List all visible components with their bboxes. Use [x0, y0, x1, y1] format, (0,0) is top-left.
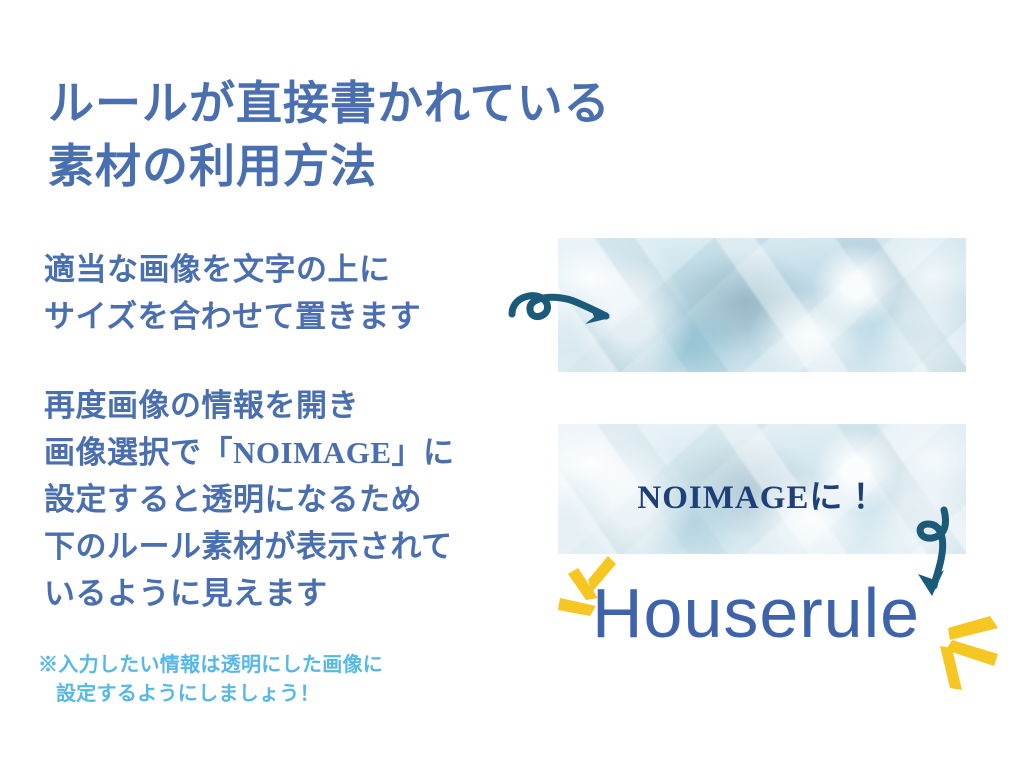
footnote-line-1: ※入力したい情報は透明にした画像に [38, 654, 383, 676]
body-paragraph-2: 再度画像の情報を開き 画像選択で「NOIMAGE」に 設定すると透明になるため … [44, 382, 544, 618]
body-paragraph-1: 適当な画像を文字の上に サイズを合わせて置きます [44, 246, 514, 340]
sparkle-burst-right-icon [918, 606, 1008, 698]
slide-canvas: ルールが直接書かれている 素材の利用方法 適当な画像を文字の上に サイズを合わせ… [0, 0, 1024, 768]
footnote-line-2: 設定するようにしましょう！ [38, 680, 498, 709]
footnote: ※入力したい情報は透明にした画像に 設定するようにしましょう！ [38, 622, 498, 738]
crystal-photo-top [558, 238, 966, 372]
houserule-logo: Houserule [592, 578, 920, 648]
page-title: ルールが直接書かれている 素材の利用方法 [48, 72, 748, 199]
crystal-photo-bottom: NOIMAGEに ！ [558, 424, 966, 554]
photo-caption-noimage: NOIMAGEに ！ [558, 470, 966, 518]
photo-texture-highlights [558, 238, 966, 372]
